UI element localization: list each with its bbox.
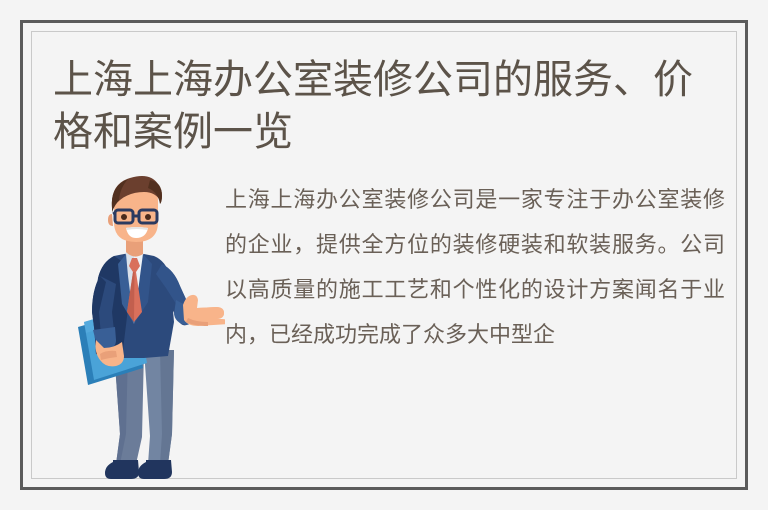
card-content: 上海上海办公室装修公司的服务、价格和案例一览	[32, 32, 736, 478]
article-body-block: 上海上海办公室装修公司是一家专注于办公室装修的企业，提供全方位的装修硬装和软装服…	[225, 178, 725, 358]
card-outer-frame: 上海上海办公室装修公司的服务、价格和案例一览	[20, 20, 748, 490]
businessman-illustration	[70, 172, 225, 487]
card-inner-frame: 上海上海办公室装修公司的服务、价格和案例一览	[31, 31, 737, 479]
article-body-text: 上海上海办公室装修公司是一家专注于办公室装修的企业，提供全方位的装修硬装和软装服…	[225, 178, 725, 358]
page-root: 上海上海办公室装修公司的服务、价格和案例一览	[0, 0, 768, 510]
page-title: 上海上海办公室装修公司的服务、价格和案例一览	[53, 54, 725, 158]
